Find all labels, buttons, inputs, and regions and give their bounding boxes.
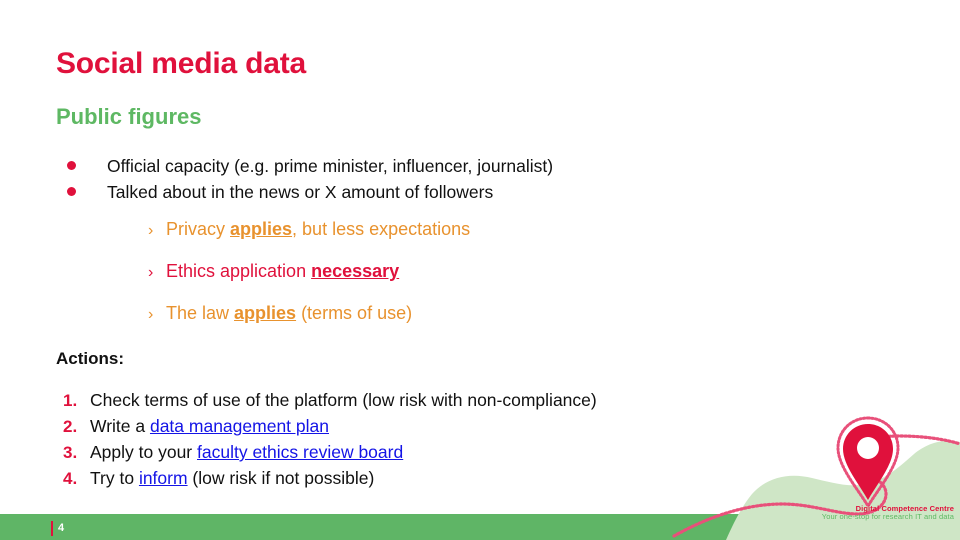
bullet-dot-icon (67, 161, 76, 170)
chevron-right-icon: › (148, 307, 166, 323)
page-number: 4 (58, 521, 64, 536)
sub-bullet-text: The law applies (terms of use) (166, 304, 412, 322)
sub-bullet-emphasis: applies (230, 219, 292, 239)
link-data-management-plan[interactable]: data management plan (150, 416, 329, 436)
logo: Digital Competence Centre Your one-stop … (660, 410, 960, 540)
chevron-right-icon: › (148, 223, 166, 239)
chevron-right-icon: › (148, 265, 166, 281)
sub-bullet-post: (terms of use) (296, 303, 412, 323)
text-pre: Check terms of use of the platform (low … (90, 390, 597, 410)
list-item-text: Try to inform (low risk if not possible) (90, 468, 374, 489)
list-item-number: 4. (56, 469, 90, 489)
sub-list-item: › The law applies (terms of use) (148, 304, 848, 346)
link-faculty-ethics-review-board[interactable]: faculty ethics review board (197, 442, 403, 462)
list-item-number: 1. (56, 391, 90, 411)
sub-bullet-emphasis: necessary (311, 261, 399, 281)
text-pre: Apply to your (90, 442, 197, 462)
page-subtitle: Public figures (56, 104, 201, 130)
text-post: (low risk if not possible) (188, 468, 375, 488)
text-pre: Write a (90, 416, 150, 436)
page-number-tick (51, 521, 53, 536)
bullet-dot-icon (67, 187, 76, 196)
bullet-item-label: Talked about in the news or X amount of … (107, 179, 493, 205)
bullet-list: Official capacity (e.g. prime minister, … (60, 153, 840, 205)
logo-landmass-shape (726, 441, 960, 540)
link-inform[interactable]: inform (139, 468, 188, 488)
sub-bullet-post: , but less expectations (292, 219, 470, 239)
list-item-text: Apply to your faculty ethics review boar… (90, 442, 403, 463)
map-pin-hole (857, 437, 879, 459)
text-pre: Try to (90, 468, 139, 488)
sub-bullet-emphasis: applies (234, 303, 296, 323)
logo-tagline: Your one-stop for research IT and data (822, 513, 954, 522)
sub-bullet-list: › Privacy applies, but less expectations… (148, 220, 848, 346)
sub-bullet-pre: The law (166, 303, 234, 323)
sub-list-item: › Privacy applies, but less expectations (148, 220, 848, 262)
sub-bullet-pre: Privacy (166, 219, 230, 239)
list-item: Official capacity (e.g. prime minister, … (60, 153, 840, 179)
list-item-text: Check terms of use of the platform (low … (90, 390, 597, 411)
logo-text-block: Digital Competence Centre Your one-stop … (822, 505, 954, 522)
list-item-number: 2. (56, 417, 90, 437)
footer-bar (0, 514, 748, 540)
list-item-text: Write a data management plan (90, 416, 329, 437)
sub-bullet-text: Ethics application necessary (166, 262, 399, 280)
sub-bullet-pre: Ethics application (166, 261, 311, 281)
sub-list-item: › Ethics application necessary (148, 262, 848, 304)
list-item: Talked about in the news or X amount of … (60, 179, 840, 205)
actions-heading: Actions: (56, 349, 124, 369)
page-title: Social media data (56, 47, 306, 81)
list-item-number: 3. (56, 443, 90, 463)
sub-bullet-text: Privacy applies, but less expectations (166, 220, 470, 238)
bullet-item-label: Official capacity (e.g. prime minister, … (107, 153, 553, 179)
slide-canvas: Social media data Public figures Officia… (0, 0, 960, 540)
